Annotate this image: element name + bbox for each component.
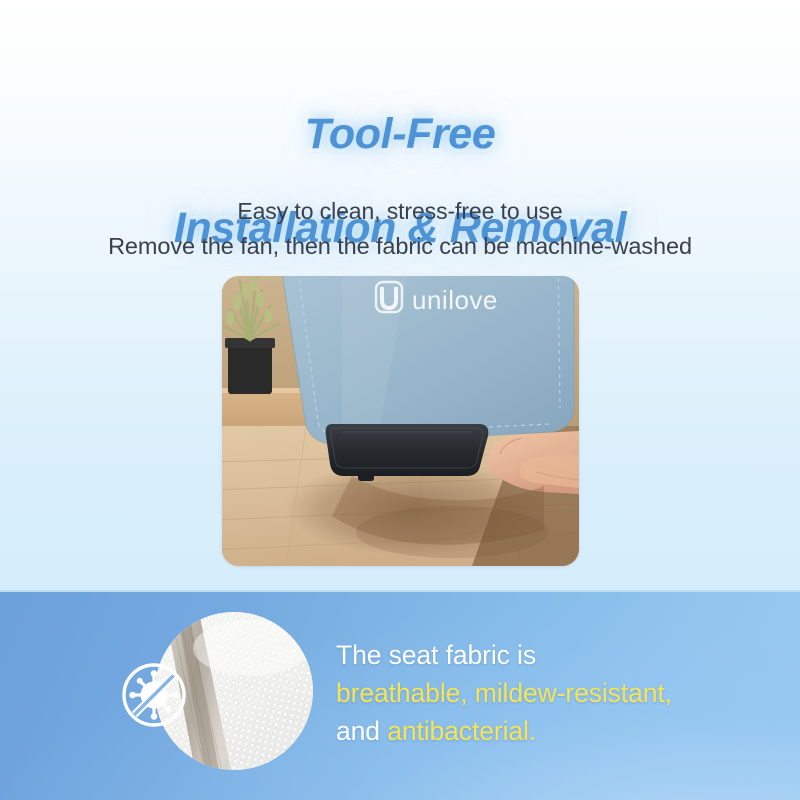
virus-free-icon-glyph xyxy=(119,660,189,730)
subtitle-line-1: Easy to clean, stress-free to use xyxy=(0,194,800,229)
bottom-copy-line-3-highlight: antibacterial. xyxy=(387,716,536,746)
bottom-copy: The seat fabric is breathable, mildew-re… xyxy=(336,636,788,750)
top-section: Tool-Free Installation & Removal Easy to… xyxy=(0,0,800,592)
svg-text:unilove: unilove xyxy=(412,285,498,315)
subtitle: Easy to clean, stress-free to use Remove… xyxy=(0,194,800,264)
seat-cushion-illustration: unilove xyxy=(283,276,574,444)
product-feature-poster: Tool-Free Installation & Removal Easy to… xyxy=(0,0,800,800)
bottom-copy-line-2: breathable, mildew-resistant, xyxy=(336,674,788,712)
subtitle-line-2: Remove the fan, then the fabric can be m… xyxy=(0,229,800,264)
bottom-copy-line-1: The seat fabric is xyxy=(336,636,788,674)
headline-line-1: Tool-Free xyxy=(0,111,800,158)
fan-module-illustration xyxy=(326,424,489,481)
bottom-copy-line-3-plain: and xyxy=(336,716,387,746)
bottom-copy-line-3: and antibacterial. xyxy=(336,712,788,750)
product-photo-illustration: unilove xyxy=(222,276,579,566)
virus-free-icon xyxy=(119,660,189,730)
product-photo: unilove xyxy=(222,276,579,566)
